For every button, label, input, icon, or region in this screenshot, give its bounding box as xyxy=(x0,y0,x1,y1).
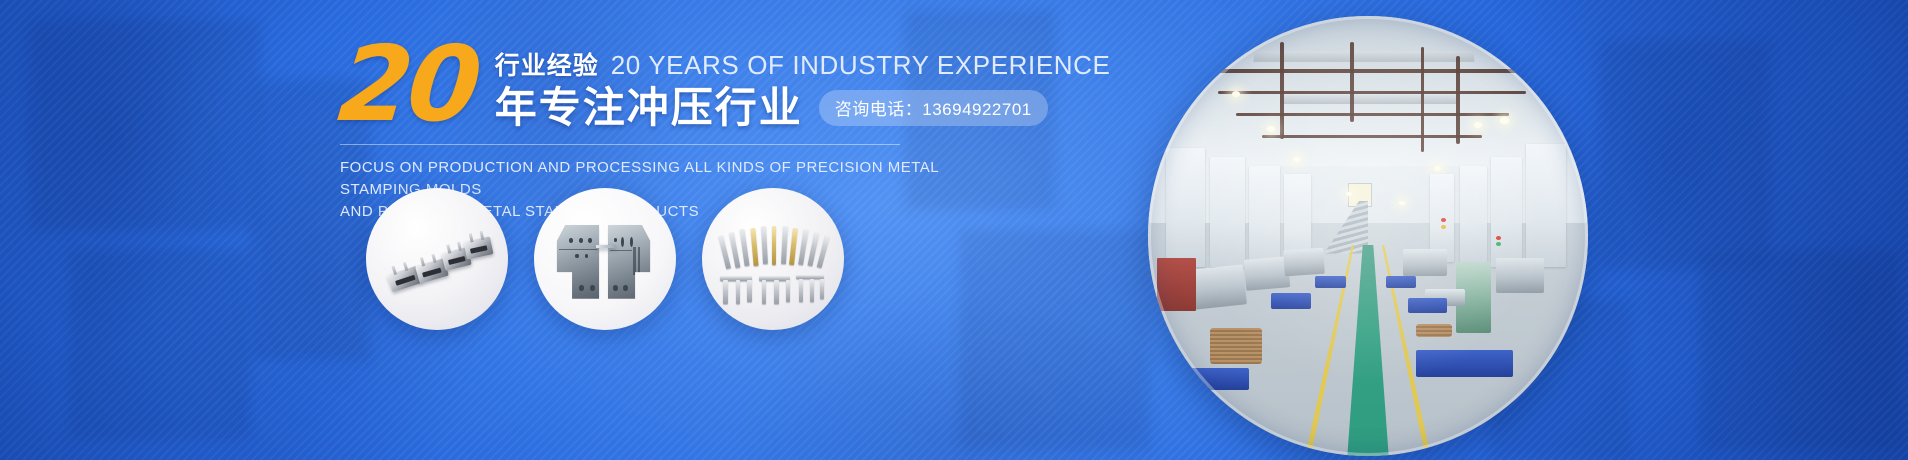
product-circle-usb-connector-shells[interactable] xyxy=(366,188,508,330)
headline-line-one: 行业经验 20 YEARS OF INDUSTRY EXPERIENCE xyxy=(495,46,1111,82)
headline-line-two: 年专注冲压行业 咨询电话：13694922701 xyxy=(495,86,1111,130)
headline-row: 20 行业经验 20 YEARS OF INDUSTRY EXPERIENCE … xyxy=(340,38,1040,130)
headline-cn-small: 行业经验 xyxy=(495,46,599,82)
factory-workshop-photo[interactable] xyxy=(1148,16,1588,456)
headline-cn-big: 年专注冲压行业 xyxy=(495,86,803,130)
promo-banner: 20 行业经验 20 YEARS OF INDUSTRY EXPERIENCE … xyxy=(0,0,1908,460)
product-circle-stamping-die-mold[interactable] xyxy=(534,188,676,330)
product-circle-metal-terminals[interactable] xyxy=(702,188,844,330)
phone-badge[interactable]: 咨询电话：13694922701 xyxy=(819,90,1048,126)
headline-text: 行业经验 20 YEARS OF INDUSTRY EXPERIENCE 年专注… xyxy=(495,38,1111,130)
years-number: 20 xyxy=(335,40,481,129)
headline-en-small: 20 YEARS OF INDUSTRY EXPERIENCE xyxy=(611,50,1111,81)
factory-photo-ring xyxy=(1148,16,1588,456)
